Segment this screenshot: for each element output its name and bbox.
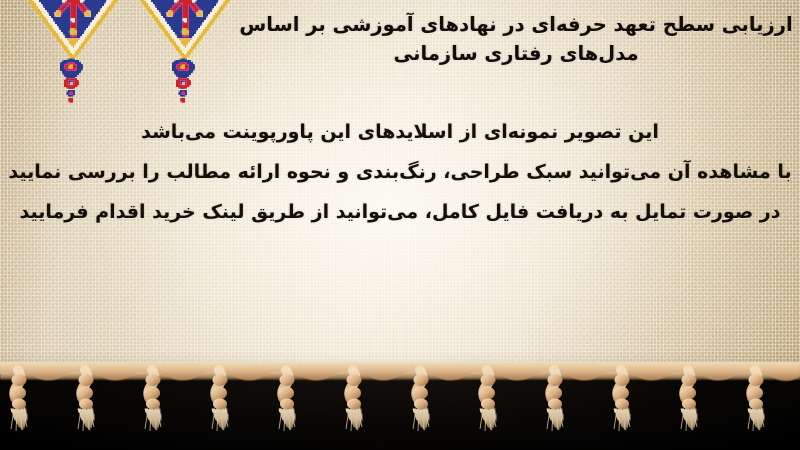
slide-title-line-1: ارزیابی سطح تعهد حرفه‌ای در نهادهای آموز…: [238, 10, 794, 39]
carpet-medallion-right-icon: [126, 0, 244, 64]
slide-canvas: ارزیابی سطح تعهد حرفه‌ای در نهادهای آموز…: [0, 0, 800, 450]
slide-title: ارزیابی سطح تعهد حرفه‌ای در نهادهای آموز…: [238, 10, 794, 68]
carpet-medallion-left-icon: [14, 0, 132, 64]
slide-body-text: این تصویر نمونه‌ای از اسلایدهای این پاور…: [0, 112, 800, 232]
slide-body-line-2: با مشاهده آن می‌توانید سبک طراحی، رنگ‌بن…: [0, 152, 800, 192]
slide-body-line-1: این تصویر نمونه‌ای از اسلایدهای این پاور…: [0, 112, 800, 152]
slide-title-line-2: مدل‌های رفتاری سازمانی: [238, 39, 794, 68]
slide-body-line-3: در صورت تمایل به دریافت فایل کامل، می‌تو…: [0, 192, 800, 232]
carpet-fringe-icon: [0, 356, 800, 450]
carpet-pendant-right-icon: [166, 58, 200, 104]
carpet-pendant-left-icon: [54, 58, 88, 104]
